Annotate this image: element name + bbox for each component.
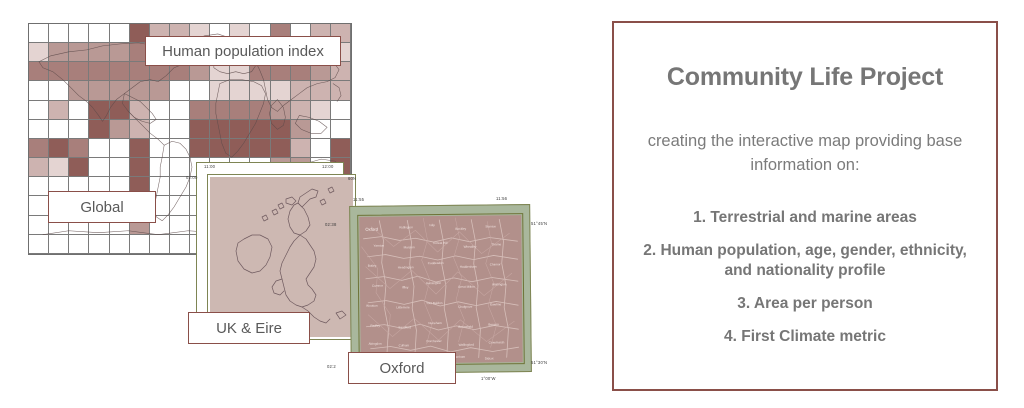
grid-cell[interactable] [89, 158, 109, 177]
grid-cell[interactable] [291, 81, 311, 100]
grid-cell[interactable] [150, 101, 170, 120]
svg-text:Berinsfield: Berinsfield [458, 325, 473, 329]
grid-cell[interactable] [89, 81, 109, 100]
grid-cell[interactable] [311, 120, 331, 139]
panel-item-1: 1. Terrestrial and marine areas [693, 208, 917, 228]
grid-cell[interactable] [29, 139, 49, 158]
grid-cell[interactable] [29, 62, 49, 81]
grid-cell[interactable] [170, 139, 190, 158]
svg-text:Chinnor: Chinnor [490, 262, 501, 266]
oxford-tick-left-top: 02:38 [325, 222, 336, 227]
grid-cell[interactable] [230, 120, 250, 139]
grid-cell[interactable] [29, 24, 49, 43]
map-stack: 11:00 12:00 02:00 60N [0, 0, 600, 408]
grid-cell[interactable] [49, 235, 69, 254]
grid-cell[interactable] [230, 139, 250, 158]
grid-cell[interactable] [110, 139, 130, 158]
svg-text:Abingdon: Abingdon [369, 342, 382, 346]
grid-cell[interactable] [311, 101, 331, 120]
svg-text:Toot Baldon: Toot Baldon [426, 301, 443, 305]
grid-cell[interactable] [69, 120, 89, 139]
grid-cell[interactable] [331, 101, 351, 120]
grid-cell[interactable] [29, 81, 49, 100]
grid-cell[interactable] [210, 101, 230, 120]
svg-text:Islip: Islip [429, 223, 435, 227]
grid-cell[interactable] [170, 177, 190, 196]
grid-cell[interactable] [150, 139, 170, 158]
panel-item-2: 2. Human population, age, gender, ethnic… [637, 241, 973, 281]
grid-cell[interactable] [210, 120, 230, 139]
grid-cell[interactable] [89, 139, 109, 158]
grid-cell[interactable] [69, 43, 89, 62]
grid-cell[interactable] [29, 120, 49, 139]
grid-cell[interactable] [110, 24, 130, 43]
grid-cell[interactable] [49, 24, 69, 43]
grid-cell[interactable] [29, 43, 49, 62]
svg-text:Wootton: Wootton [366, 304, 378, 308]
grid-cell[interactable] [130, 158, 150, 177]
svg-text:Benson: Benson [488, 322, 499, 326]
svg-text:Yarnton: Yarnton [374, 244, 385, 248]
grid-cell[interactable] [230, 101, 250, 120]
grid-cell[interactable] [170, 196, 190, 215]
oxford-tick-bottom: 1°00'W [481, 376, 496, 381]
grid-cell[interactable] [190, 81, 210, 100]
callout-oxford[interactable]: Oxford [348, 352, 456, 384]
grid-cell[interactable] [271, 81, 291, 100]
grid-cell[interactable] [89, 101, 109, 120]
grid-cell[interactable] [49, 81, 69, 100]
oxford-tick-right-bottom: 51°30'N [531, 360, 547, 365]
grid-cell[interactable] [69, 235, 89, 254]
callout-human-population-index[interactable]: Human population index [145, 36, 341, 66]
svg-text:Nuneham: Nuneham [428, 321, 442, 325]
callout-uk-eire[interactable]: UK & Eire [188, 312, 310, 344]
svg-text:Great Milton: Great Milton [458, 285, 475, 289]
oxford-tick-right-top: 51°45'N [531, 221, 547, 226]
grid-cell[interactable] [89, 24, 109, 43]
grid-cell[interactable] [29, 177, 49, 196]
grid-cell[interactable] [89, 62, 109, 81]
grid-cell[interactable] [29, 235, 49, 254]
grid-cell[interactable] [110, 120, 130, 139]
grid-cell[interactable] [170, 81, 190, 100]
grid-cell[interactable] [29, 158, 49, 177]
grid-cell[interactable] [110, 158, 130, 177]
grid-cell[interactable] [331, 81, 351, 100]
svg-text:Radley: Radley [370, 324, 380, 328]
grid-cell[interactable] [69, 139, 89, 158]
grid-cell[interactable] [69, 62, 89, 81]
grid-cell[interactable] [69, 158, 89, 177]
svg-text:Crowmarsh: Crowmarsh [489, 340, 505, 344]
grid-cell[interactable] [210, 139, 230, 158]
grid-cell[interactable] [110, 43, 130, 62]
oxford-tick-top-left: 11:55 [353, 197, 364, 202]
panel-item-3: 3. Area per person [737, 294, 873, 314]
svg-text:Sandford: Sandford [398, 325, 411, 329]
grid-cell[interactable] [291, 139, 311, 158]
grid-cell[interactable] [130, 81, 150, 100]
grid-cell[interactable] [69, 81, 89, 100]
grid-cell[interactable] [190, 139, 210, 158]
grid-cell[interactable] [110, 81, 130, 100]
svg-text:Littlemore: Littlemore [396, 305, 410, 309]
info-panel: Community Life Project creating the inte… [612, 21, 998, 391]
svg-text:Iffley: Iffley [402, 285, 409, 289]
grid-cell[interactable] [170, 101, 190, 120]
grid-cell[interactable] [331, 120, 351, 139]
grid-cell[interactable] [190, 120, 210, 139]
svg-text:Thame: Thame [492, 242, 502, 246]
grid-cell[interactable] [130, 120, 150, 139]
grid-cell[interactable] [170, 235, 190, 254]
grid-cell[interactable] [250, 139, 270, 158]
grid-cell[interactable] [271, 120, 291, 139]
uk-tick-top-left: 11:00 [204, 164, 215, 169]
grid-cell[interactable] [271, 101, 291, 120]
grid-cell[interactable] [69, 24, 89, 43]
callout-global[interactable]: Global [48, 191, 156, 223]
grid-cell[interactable] [89, 120, 109, 139]
svg-text:Ewelme: Ewelme [490, 302, 501, 306]
svg-text:Culham: Culham [399, 343, 410, 347]
svg-text:Wheatley: Wheatley [464, 245, 477, 249]
svg-text:Headington: Headington [398, 265, 414, 269]
grid-cell[interactable] [69, 101, 89, 120]
svg-text:Didcot: Didcot [485, 356, 494, 360]
grid-cell[interactable] [89, 235, 109, 254]
grid-cell[interactable] [49, 62, 69, 81]
grid-cell[interactable] [130, 139, 150, 158]
grid-cell[interactable] [150, 81, 170, 100]
svg-text:Garsington: Garsington [426, 281, 441, 285]
grid-cell[interactable] [311, 81, 331, 100]
grid-cell[interactable] [89, 43, 109, 62]
svg-text:Chalgrove: Chalgrove [458, 305, 472, 309]
grid-cell[interactable] [250, 101, 270, 120]
oxford-road-network: Oxford Kidlington Islip Beckley Stanton … [359, 215, 523, 364]
grid-cell[interactable] [49, 101, 69, 120]
svg-text:Cuddesdon: Cuddesdon [428, 261, 444, 265]
svg-text:Beckley: Beckley [455, 227, 466, 231]
svg-text:Oxford: Oxford [365, 227, 378, 232]
svg-text:Cumnor: Cumnor [372, 284, 383, 288]
grid-cell[interactable] [170, 120, 190, 139]
svg-text:Botley: Botley [368, 264, 377, 268]
grid-cell[interactable] [29, 216, 49, 235]
slide-root: 11:00 12:00 02:00 60N [0, 0, 1024, 408]
panel-title: Community Life Project [667, 63, 943, 92]
grid-cell[interactable] [49, 139, 69, 158]
svg-text:Kidlington: Kidlington [399, 225, 413, 229]
panel-lead: creating the interactive map providing b… [640, 130, 970, 178]
grid-cell[interactable] [230, 81, 250, 100]
grid-cell[interactable] [150, 120, 170, 139]
grid-cell[interactable] [190, 101, 210, 120]
oxford-tick-top-right: 11:56 [496, 196, 507, 201]
grid-cell[interactable] [29, 101, 49, 120]
svg-text:Marston: Marston [404, 245, 415, 249]
grid-cell[interactable] [291, 101, 311, 120]
grid-cell[interactable] [49, 120, 69, 139]
grid-cell[interactable] [271, 139, 291, 158]
grid-cell[interactable] [130, 101, 150, 120]
grid-cell[interactable] [130, 235, 150, 254]
grid-cell[interactable] [150, 235, 170, 254]
svg-text:Forest Hill: Forest Hill [433, 241, 447, 245]
grid-cell[interactable] [150, 158, 170, 177]
grid-cell[interactable] [250, 81, 270, 100]
grid-cell[interactable] [110, 101, 130, 120]
grid-cell[interactable] [110, 235, 130, 254]
grid-cell[interactable] [311, 139, 331, 158]
oxford-tick-left-bottom: 02:2 [327, 364, 336, 369]
svg-text:Haddenham: Haddenham [460, 265, 477, 269]
grid-cell[interactable] [110, 62, 130, 81]
grid-cell[interactable] [49, 43, 69, 62]
grid-cell[interactable] [291, 120, 311, 139]
uk-tick-top-right: 12:00 [322, 164, 333, 169]
svg-text:Stanton: Stanton [485, 224, 496, 228]
grid-cell[interactable] [170, 216, 190, 235]
svg-text:Dorchester: Dorchester [427, 339, 442, 343]
grid-cell[interactable] [49, 158, 69, 177]
grid-cell[interactable] [210, 81, 230, 100]
grid-cell[interactable] [29, 196, 49, 215]
svg-text:Wallingford: Wallingford [459, 343, 475, 347]
grid-cell[interactable] [250, 120, 270, 139]
svg-text:Watlington: Watlington [492, 282, 507, 286]
uk-tick-left: 02:00 [186, 175, 197, 180]
uk-tick-right: 60N [348, 176, 356, 181]
panel-item-list: 1. Terrestrial and marine areas2. Human … [636, 208, 974, 348]
grid-cell[interactable] [331, 139, 351, 158]
oxford-plot-area: Oxford Kidlington Islip Beckley Stanton … [359, 215, 523, 364]
panel-item-4: 4. First Climate metric [724, 327, 886, 347]
